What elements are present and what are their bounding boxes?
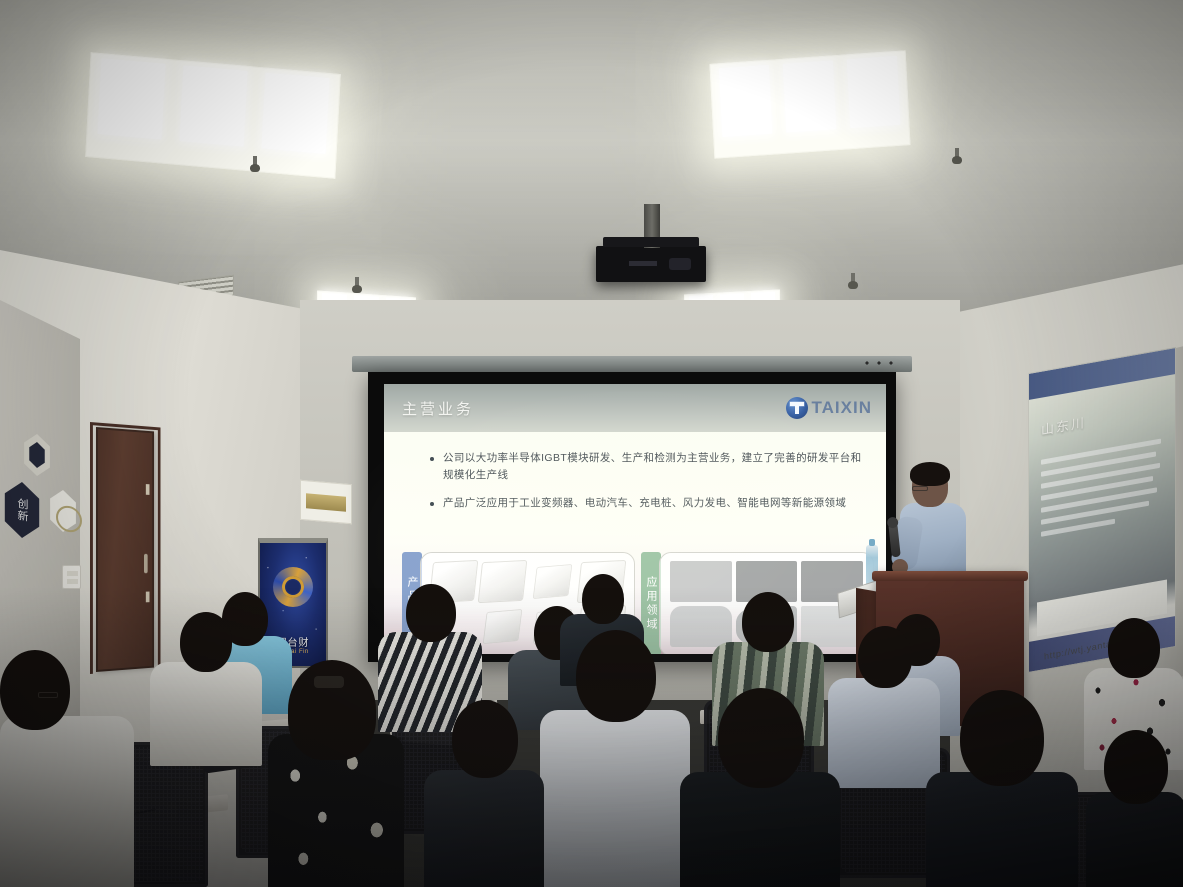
presenter [896,465,972,585]
wall-badge-label: 创新 [14,497,30,524]
door-handle[interactable] [144,554,148,573]
bullet-dot-icon [430,502,434,506]
ceiling-projector [596,246,706,282]
taixin-circle-logo-icon [786,397,808,419]
poster-body-text [1041,439,1161,544]
audience-head [858,626,912,688]
glasses-icon [38,692,58,698]
slide-title: 主营业务 [402,398,474,419]
audience-head [180,612,232,672]
light-switch[interactable] [62,565,81,589]
audience-member [268,660,404,887]
audience-head [1104,730,1168,804]
screen-control-dots [864,361,898,366]
bullet-item: 产品广泛应用于工业变频器、电动汽车、充电桩、风力发电、智能电网等新能源领域 [430,495,864,512]
bullet-text: 产品广泛应用于工业变频器、电动汽车、充电桩、风力发电、智能电网等新能源领域 [443,495,846,512]
projector-lens [669,258,691,270]
audience-member [680,688,840,887]
wall-plaque [300,480,352,525]
fire-sprinkler-head [250,156,260,173]
bullet-text: 公司以大功率半导体IGBT模块研发、生产和检测为主营业务，建立了完善的研发平台和… [443,450,864,485]
conference-room-scene: 创新 烟台财 Yantai Fin 主营业务 TAIXIN [0,0,1183,887]
audience-shirt [0,716,134,887]
plaque-engraving [306,493,346,511]
audience-member [0,650,134,887]
projection-screen-housing [352,356,912,372]
audience-member [150,612,262,762]
audience-shirt [926,772,1078,887]
hair-accessory [314,676,344,688]
poster-heading: 山东川 [1041,406,1119,442]
bullet-dot-icon [430,457,434,461]
audience-shirt [1086,792,1183,887]
audience-head [288,660,376,760]
ceiling-light-panel [85,52,341,178]
audience-head [406,584,456,642]
fire-sprinkler-head [848,273,858,290]
fire-sprinkler-head [952,148,962,165]
audience-head [718,688,804,788]
audience-member [828,626,940,784]
audience-member [926,690,1078,887]
audience-shirt [828,678,940,788]
audience-head [960,690,1044,786]
igbt-module-image [478,560,528,603]
door-hinge [146,484,150,495]
audience-member [424,700,544,887]
fire-sprinkler-head [352,277,362,294]
audience-head [452,700,518,778]
glasses-icon [912,486,928,491]
bullet-item: 公司以大功率半导体IGBT模块研发、生产和检测为主营业务，建立了完善的研发平台和… [430,450,864,485]
company-logo-text: TAIXIN [812,398,872,418]
projector-label [629,261,657,266]
audience-member [540,630,690,887]
podium-top [872,571,1028,581]
audience-shirt [540,710,690,887]
audience-head [582,574,624,624]
room-door[interactable] [96,427,154,672]
ceiling-light-panel [710,50,911,158]
audience-head [0,650,70,730]
audience-shirt [424,770,544,887]
audience-head [576,630,656,722]
audience-shirt [680,772,840,887]
company-logo: TAIXIN [786,397,872,419]
audience-head [742,592,794,652]
audience-member [1086,730,1183,887]
poster-heading-text: 山东川 [1041,406,1119,439]
presenter-hair [910,462,950,486]
audience-shirt [150,662,262,766]
slide-bullet-list: 公司以大功率半导体IGBT模块研发、生产和检测为主营业务，建立了完善的研发平台和… [430,450,864,522]
audience-head [1108,618,1160,678]
door-hinge [146,591,150,602]
slide-header: 主营业务 TAIXIN [384,384,886,432]
